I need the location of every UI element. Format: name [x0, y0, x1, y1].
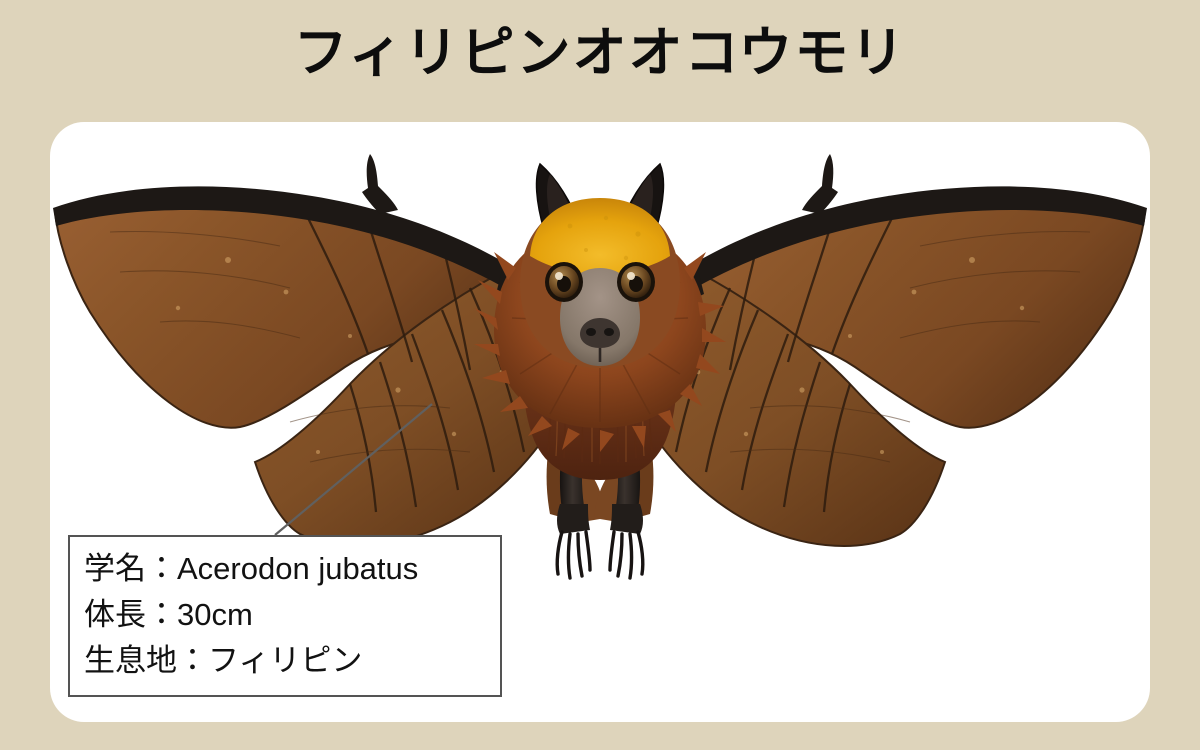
illustration-card: 学名：Acerodon jubatus 体長：30cm 生息地：フィリピン — [50, 122, 1150, 722]
info-line-habitat: 生息地：フィリピン — [84, 638, 486, 684]
right-wing — [638, 154, 1147, 546]
left-wing — [53, 154, 562, 546]
info-line-scientific-name: 学名：Acerodon jubatus — [84, 546, 486, 592]
poster-root: フィリピンオオコウモリ — [0, 0, 1200, 750]
info-callout-box: 学名：Acerodon jubatus 体長：30cm 生息地：フィリピン — [68, 535, 502, 697]
info-line-body-length: 体長：30cm — [84, 592, 486, 638]
page-title: フィリピンオオコウモリ — [0, 22, 1200, 84]
head — [520, 198, 680, 368]
thumb-claw — [362, 154, 398, 214]
thumb-claw — [802, 154, 838, 214]
